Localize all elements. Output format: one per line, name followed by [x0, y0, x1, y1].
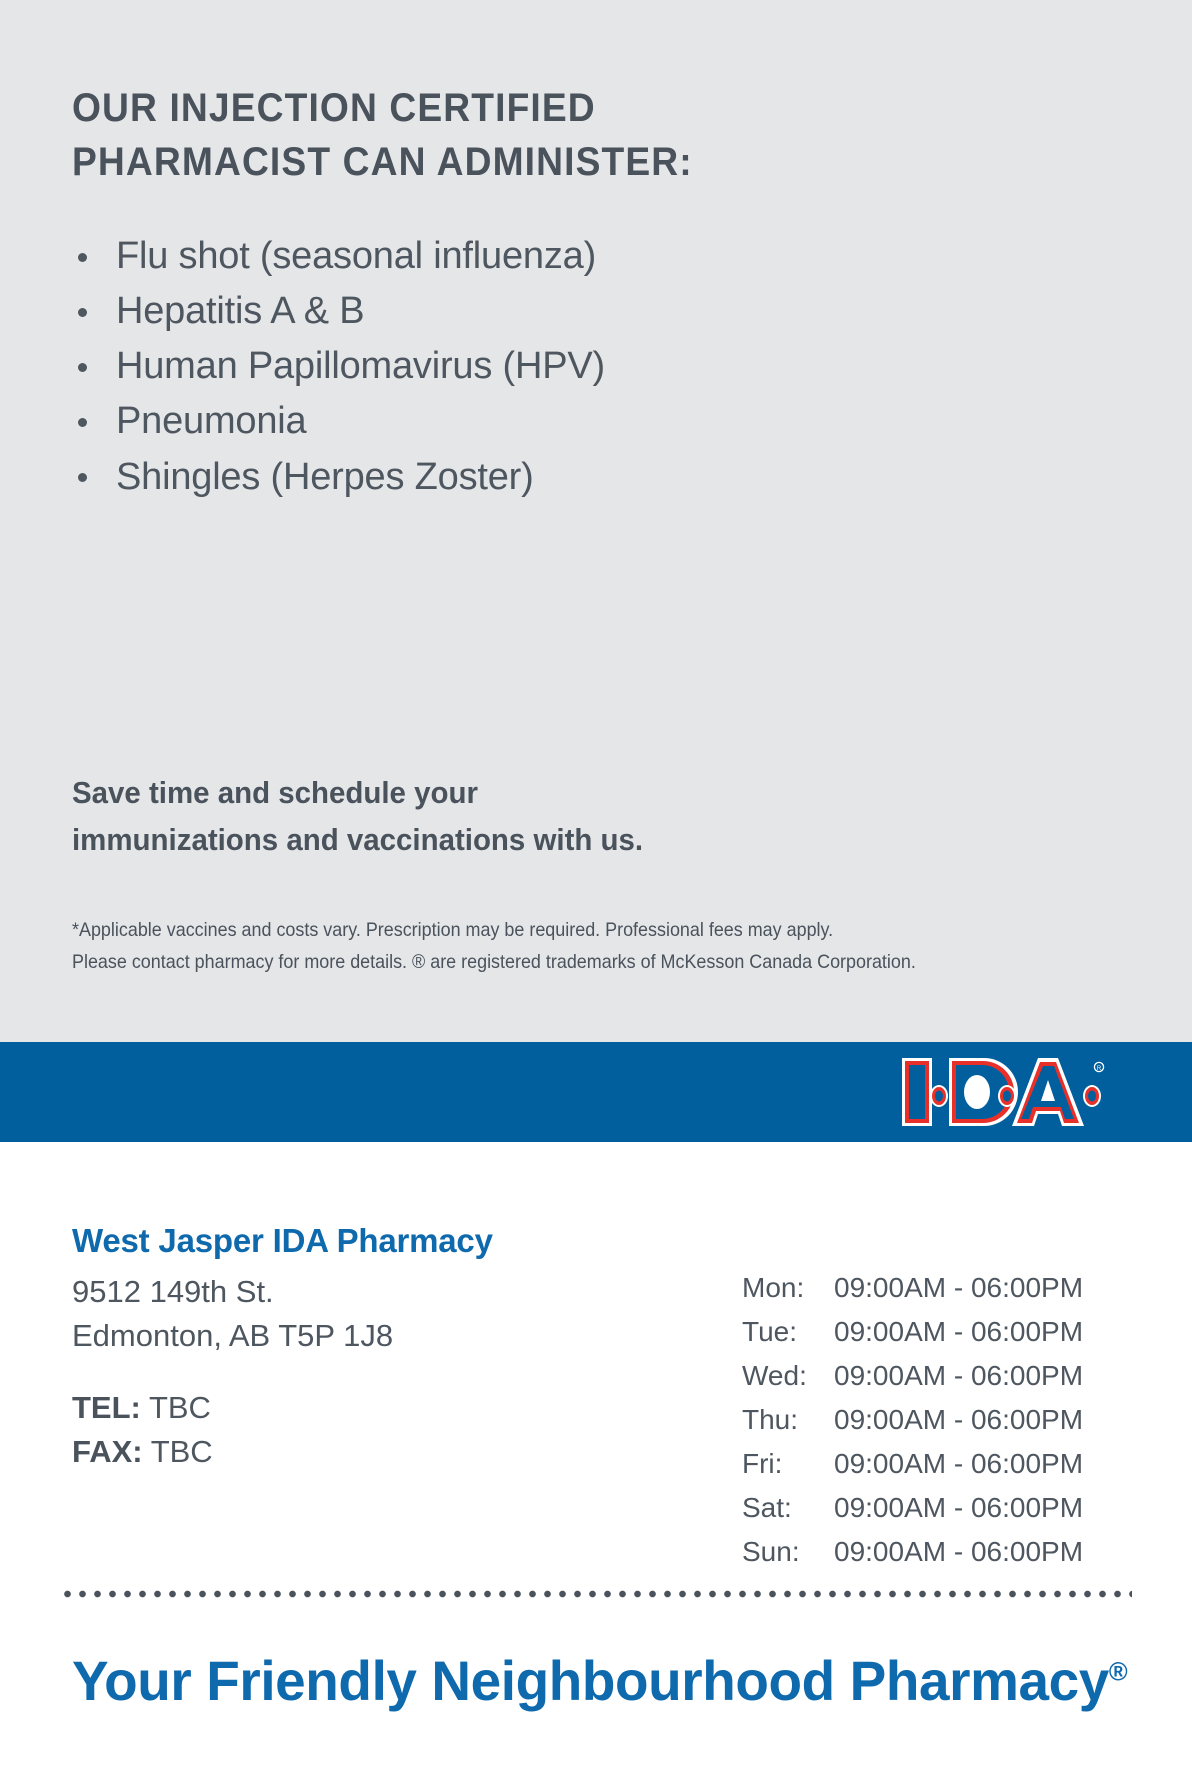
table-row: Sun: 09:00AM - 06:00PM: [742, 1530, 1142, 1574]
table-row: Wed: 09:00AM - 06:00PM: [742, 1354, 1142, 1398]
list-item-label: Human Papillomavirus (HPV): [116, 345, 605, 387]
hours-time-value: 09:00AM - 06:00PM: [834, 1310, 1142, 1354]
store-name: West Jasper IDA Pharmacy: [72, 1222, 672, 1260]
hours-time-value: 09:00AM - 06:00PM: [834, 1442, 1142, 1486]
fax-label: FAX:: [72, 1434, 143, 1469]
hours-day-label: Sat:: [742, 1486, 834, 1530]
store-address: 9512 149th St. Edmonton, AB T5P 1J8: [72, 1270, 672, 1358]
list-item-label: Flu shot (seasonal influenza): [116, 235, 596, 277]
telephone-value: TBC: [149, 1390, 211, 1425]
hours-time-value: 09:00AM - 06:00PM: [834, 1398, 1142, 1442]
table-row: Tue: 09:00AM - 06:00PM: [742, 1310, 1142, 1354]
bullet-icon: [78, 473, 87, 482]
hours-time-value: 09:00AM - 06:00PM: [834, 1266, 1142, 1310]
store-block: West Jasper IDA Pharmacy 9512 149th St. …: [72, 1222, 672, 1474]
hours-time-value: 09:00AM - 06:00PM: [834, 1530, 1142, 1574]
list-item-label: Shingles (Herpes Zoster): [116, 456, 534, 498]
fax-value: TBC: [151, 1434, 213, 1469]
ida-logo-icon: R: [898, 1054, 1106, 1130]
pharmacy-flyer: OUR INJECTION CERTIFIED PHARMACIST CAN A…: [0, 0, 1192, 1785]
list-item: Human Papillomavirus (HPV): [72, 339, 1120, 394]
store-hours-table: Mon: 09:00AM - 06:00PM Tue: 09:00AM - 06…: [742, 1266, 1142, 1574]
list-item-label: Pneumonia: [116, 400, 306, 442]
table-row: Mon: 09:00AM - 06:00PM: [742, 1266, 1142, 1310]
list-item: Shingles (Herpes Zoster): [72, 450, 1120, 505]
dotted-divider: [60, 1590, 1132, 1598]
vaccine-list: Flu shot (seasonal influenza) Hepatitis …: [72, 189, 1120, 504]
callout-text: Save time and schedule your immunization…: [72, 770, 927, 863]
telephone-row: TEL: TBC: [72, 1386, 672, 1430]
registered-trademark-icon: ®: [1109, 1656, 1127, 1686]
bullet-icon: [78, 418, 87, 427]
hours-day-label: Tue:: [742, 1310, 834, 1354]
bullet-icon: [78, 363, 87, 372]
list-item: Pneumonia: [72, 394, 1120, 449]
hours-day-label: Wed:: [742, 1354, 834, 1398]
telephone-label: TEL:: [72, 1390, 141, 1425]
list-item: Flu shot (seasonal influenza): [72, 229, 1120, 284]
svg-text:R: R: [1097, 1066, 1102, 1072]
contact-block: TEL: TBC FAX: TBC: [72, 1386, 672, 1474]
footer-tagline: Your Friendly Neighbourhood Pharmacy®: [72, 1650, 1130, 1712]
table-row: Sat: 09:00AM - 06:00PM: [742, 1486, 1142, 1530]
callout-block: Save time and schedule your immunization…: [72, 770, 972, 863]
page-title: OUR INJECTION CERTIFIED PHARMACIST CAN A…: [72, 0, 1047, 189]
hours-day-label: Thu:: [742, 1398, 834, 1442]
fax-row: FAX: TBC: [72, 1430, 672, 1474]
brand-bar: R: [0, 1042, 1192, 1142]
hours-time-value: 09:00AM - 06:00PM: [834, 1354, 1142, 1398]
table-row: Thu: 09:00AM - 06:00PM: [742, 1398, 1142, 1442]
hours-day-label: Mon:: [742, 1266, 834, 1310]
services-panel: OUR INJECTION CERTIFIED PHARMACIST CAN A…: [0, 0, 1192, 1042]
footer-tagline-text: Your Friendly Neighbourhood Pharmacy: [72, 1649, 1109, 1712]
list-item-label: Hepatitis A & B: [116, 290, 364, 332]
list-item: Hepatitis A & B: [72, 284, 1120, 339]
hours-day-label: Fri:: [742, 1442, 834, 1486]
table-row: Fri: 09:00AM - 06:00PM: [742, 1442, 1142, 1486]
bullet-icon: [78, 253, 87, 262]
hours-time-value: 09:00AM - 06:00PM: [834, 1486, 1142, 1530]
disclaimer-text: *Applicable vaccines and costs vary. Pre…: [72, 915, 1029, 978]
bullet-icon: [78, 308, 87, 317]
hours-day-label: Sun:: [742, 1530, 834, 1574]
